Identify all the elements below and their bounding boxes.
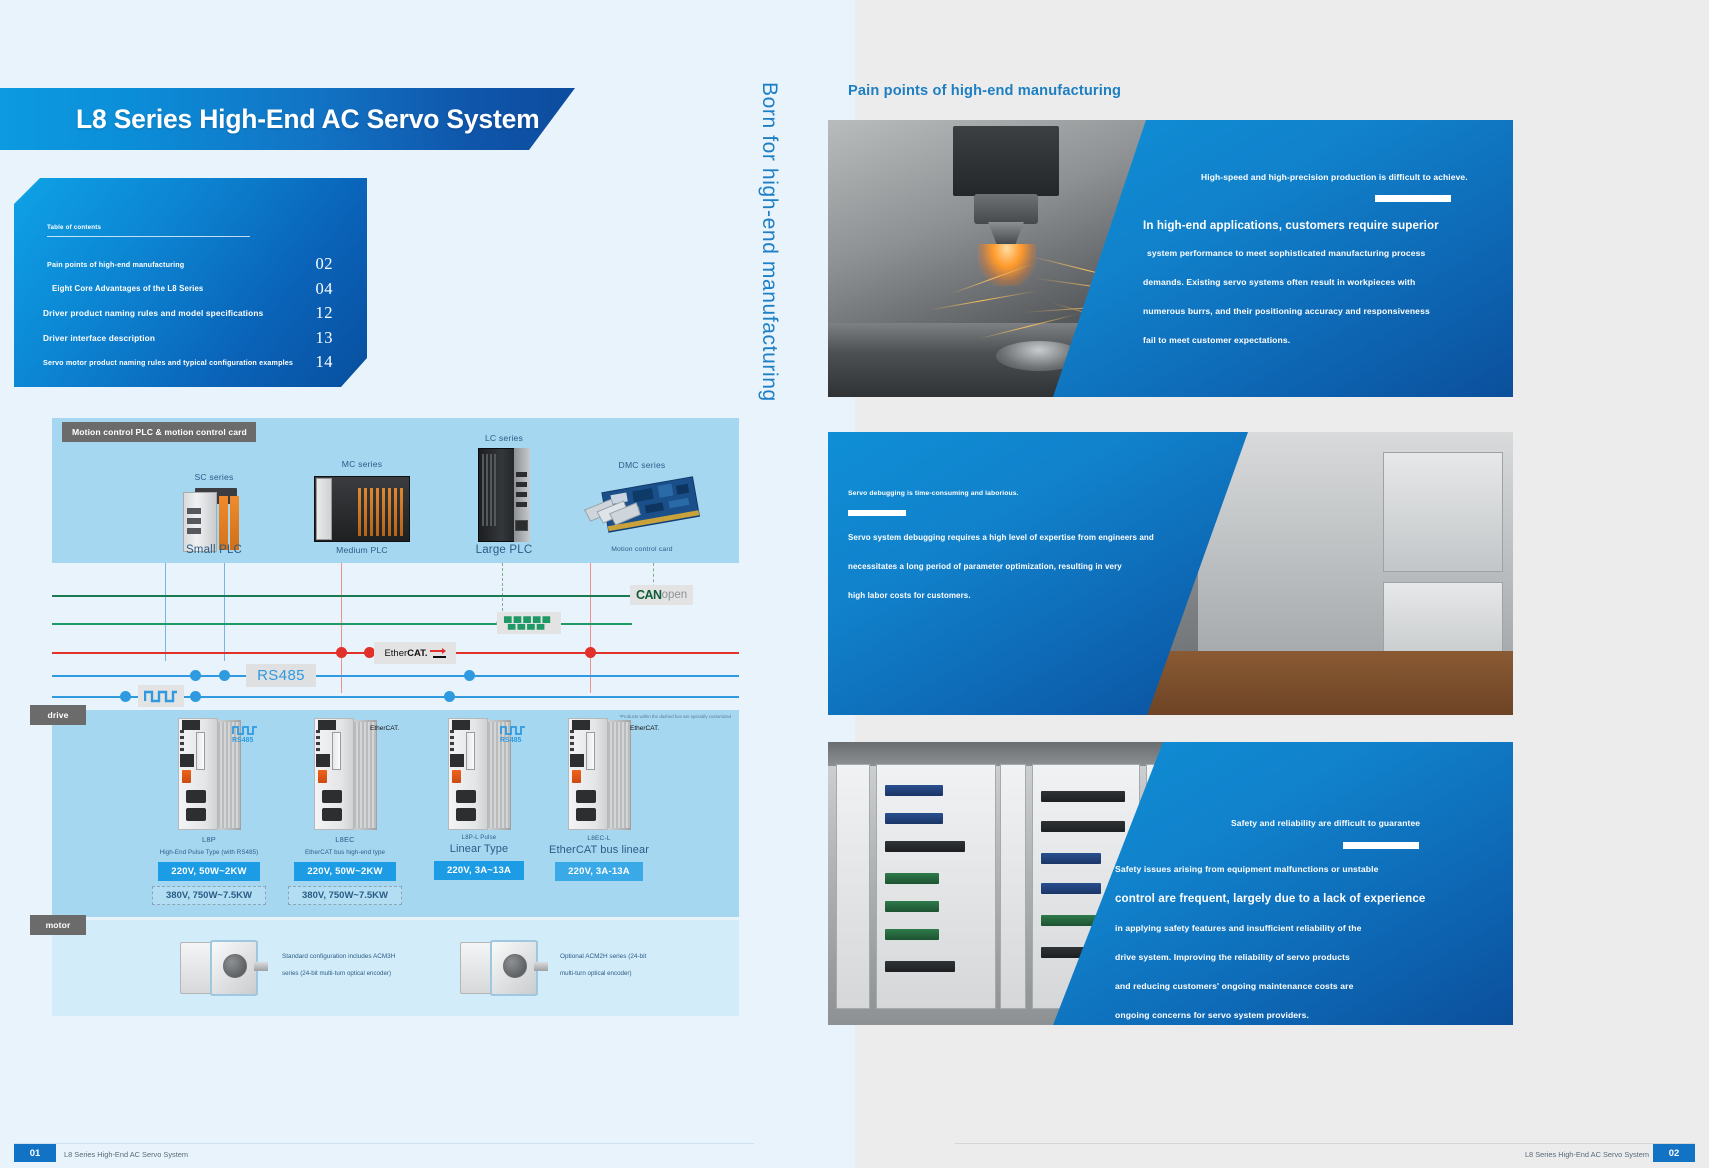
- ethercat-prefix: Ether: [384, 648, 407, 659]
- control-cabinet: [1383, 452, 1503, 572]
- panel-1-line: demands. Existing servo systems often re…: [1143, 277, 1415, 287]
- panel-2-line: necessitates a long period of parameter …: [848, 562, 1122, 571]
- drive-column-l8p: L8P High-End Pulse Type (with RS485) 220…: [134, 718, 284, 905]
- panel-2-line: Servo system debugging requires a high l…: [848, 533, 1154, 542]
- pulse-train-icon: [500, 725, 526, 735]
- toc-entry-page: 04: [316, 279, 334, 299]
- pain-point-panel-2: Servo debugging is time-consuming and la…: [828, 432, 1513, 715]
- motor-caption-standard: Standard configuration includes ACM3H se…: [282, 948, 462, 982]
- bus-node-dot: [190, 691, 201, 702]
- panel-1-heading: High-speed and high-precision production…: [1201, 172, 1468, 182]
- panel-3-line: and reducing customers' ongoing maintena…: [1115, 981, 1353, 991]
- cabinet-frame: [1000, 764, 1026, 1009]
- ethercat-arrow-icon: [430, 647, 446, 659]
- panel-1-line: system performance to meet sophisticated…: [1147, 248, 1425, 258]
- plc-name-dmc: Motion control card: [542, 546, 742, 553]
- drive-proto-text: RS485: [232, 737, 258, 744]
- drive-spec-secondary: 380V, 750W~7.5KW: [288, 886, 402, 905]
- panel-1-line: fail to meet customer expectations.: [1143, 335, 1290, 345]
- page-number-badge: 02: [1653, 1144, 1695, 1162]
- canopen-open-text: open: [662, 589, 688, 601]
- profinet-logo-chip: [497, 612, 561, 634]
- drive-model-label: L8EC-L: [524, 835, 674, 842]
- motor-caption-line1: Standard configuration includes ACM3H: [282, 948, 462, 965]
- footer-title: L8 Series High-End AC Servo System: [1525, 1150, 1649, 1159]
- bus-drop-line: [165, 563, 166, 661]
- page-title: L8 Series High-End AC Servo System: [0, 104, 539, 135]
- bus-node-dot: [585, 647, 596, 658]
- drive-proto-badge-ethercat-linear: EtherCAT.: [630, 725, 659, 732]
- bus-drop-line: [590, 563, 591, 693]
- motor-caption-line2: multi-turn optical encoder): [560, 965, 740, 982]
- toc-entry-page: 02: [316, 254, 334, 274]
- brochure-spread: L8 Series High-End AC Servo System Table…: [0, 0, 1709, 1168]
- ethercat-suffix: CAT.: [407, 648, 427, 659]
- panel-2-accent-bar: [848, 510, 906, 516]
- panel-3-heading: Safety and reliability are difficult to …: [1231, 818, 1420, 828]
- cabinet-frame: [836, 764, 870, 1009]
- drive-spec-secondary: 380V, 750W~7.5KW: [152, 886, 266, 905]
- ethercat-logo-chip: EtherCAT.: [374, 642, 456, 664]
- system-architecture-diagram: Motion control PLC & motion control card…: [52, 418, 739, 1018]
- large-plc-image: [472, 448, 536, 542]
- panel-1-line: numerous burrs, and their positioning ac…: [1143, 306, 1430, 316]
- pain-point-panel-3: Safety and reliability are difficult to …: [828, 742, 1513, 1025]
- motor-band-tag: motor: [30, 915, 86, 935]
- drive-column-l8ec: L8EC EtherCAT bus high-end type 220V, 50…: [270, 718, 420, 905]
- panel-3-accent-bar: [1343, 842, 1419, 849]
- drive-proto-badge-ethercat: EtherCAT.: [370, 725, 399, 732]
- toc-divider: [47, 236, 250, 237]
- panel-3-line: drive system. Improving the reliability …: [1115, 952, 1350, 962]
- left-page: L8 Series High-End AC Servo System Table…: [0, 0, 855, 1168]
- plc-name-small: Small PLC: [164, 544, 264, 556]
- pulse-train-icon: [232, 725, 258, 735]
- panel-1-line: In high-end applications, customers requ…: [1143, 219, 1439, 232]
- bus-node-dot: [190, 670, 201, 681]
- plc-series-label: SC series: [164, 472, 264, 482]
- footer-divider: [955, 1143, 1695, 1144]
- drive-model-label: L8EC: [270, 835, 420, 844]
- canopen-logo-chip: CANopen: [630, 585, 693, 605]
- drive-proto-badge-rs485: RS485: [232, 725, 258, 744]
- plc-series-label: LC series: [404, 433, 604, 443]
- toc-entry[interactable]: Pain points of high-end manufacturing 02: [14, 252, 367, 277]
- bus-node-dot: [464, 670, 475, 681]
- drive-proto-text: EtherCAT.: [370, 725, 399, 732]
- drive-spec-primary: 220V, 50W~2KW: [158, 862, 259, 881]
- panel-2-line: high labor costs for customers.: [848, 591, 971, 600]
- drive-desc-label: EtherCAT bus high-end type: [270, 849, 420, 856]
- toc-entry-title: Pain points of high-end manufacturing: [47, 260, 184, 269]
- right-page-heading: Pain points of high-end manufacturing: [848, 83, 1121, 99]
- drive-unit-image: [562, 718, 636, 830]
- rs485-label-chip: RS485: [246, 664, 316, 687]
- bus-node-dot: [336, 647, 347, 658]
- pain-point-panel-1: High-speed and high-precision production…: [828, 120, 1513, 397]
- toc-entry-page: 13: [316, 328, 334, 348]
- footer-divider: [14, 1143, 754, 1144]
- motor-caption-line2: series (24-bit multi-turn optical encode…: [282, 965, 462, 982]
- plc-series-label: DMC series: [542, 460, 742, 470]
- cabinet-bay: [876, 764, 996, 1009]
- toc-entry[interactable]: Driver product naming rules and model sp…: [14, 301, 367, 326]
- toc-entry-title: Driver product naming rules and model sp…: [43, 308, 263, 318]
- panel-3-line: Safety issues arising from equipment mal…: [1115, 864, 1379, 874]
- table-of-contents-panel: Table of contents Pain points of high-en…: [14, 178, 367, 387]
- footer-title: L8 Series High-End AC Servo System: [64, 1150, 188, 1159]
- canopen-can-text: CAN: [636, 588, 662, 602]
- pulse-train-icon-chip: [138, 685, 184, 707]
- motor-image-standard: [180, 934, 276, 1000]
- drive-unit-image: [308, 718, 382, 830]
- drive-spec-primary: 220V, 3A-13A: [555, 862, 643, 881]
- left-page-footer: 01 L8 Series High-End AC Servo System: [0, 1136, 855, 1168]
- motor-caption-line1: Optional ACM2H series (24-bit: [560, 948, 740, 965]
- panel-3-line: in applying safety features and insuffic…: [1115, 923, 1362, 933]
- panel-2-heading: Servo debugging is time-consuming and la…: [848, 490, 1019, 497]
- plc-item-sc: SC series: [164, 472, 264, 554]
- drive-column-l8ec-l: L8EC-L EtherCAT bus linear 220V, 3A-13A: [524, 718, 674, 881]
- drive-spec-primary: 220V, 50W~2KW: [294, 862, 395, 881]
- drive-desc-label: High-End Pulse Type (with RS485): [134, 849, 284, 856]
- panel-3-line: ongoing concerns for servo system provid…: [1115, 1010, 1309, 1020]
- toc-entry[interactable]: Driver interface description 13: [14, 326, 367, 351]
- drive-proto-text: EtherCAT.: [630, 725, 659, 732]
- pcb-card-svg: [583, 476, 701, 538]
- motor-caption-optional: Optional ACM2H series (24-bit multi-turn…: [560, 948, 740, 982]
- bus-node-dot: [219, 670, 230, 681]
- toc-entry-title: Servo motor product naming rules and typ…: [43, 358, 293, 367]
- toc-entry[interactable]: Servo motor product naming rules and typ…: [14, 350, 367, 375]
- plc-band-tag: Motion control PLC & motion control card: [62, 422, 256, 442]
- laser-head: [953, 126, 1059, 196]
- motor-image-optional: [460, 934, 556, 1000]
- medium-plc-image: [314, 474, 410, 544]
- toc-label: Table of contents: [47, 224, 101, 231]
- fieldbus-area: CANopen EtherCAT.: [52, 563, 739, 710]
- toc-list: Pain points of high-end manufacturing 02…: [14, 252, 367, 375]
- drive-band-tag: drive: [30, 705, 86, 725]
- bus-drop-line: [224, 563, 225, 661]
- vertical-slogan: Born for high-end manufacturing: [757, 82, 781, 402]
- bus-node-dot: [120, 691, 131, 702]
- profinet-logo-svg: [503, 615, 555, 631]
- drive-proto-badge-rs485-linear: RS485: [500, 725, 526, 744]
- bus-drop-line: [341, 563, 342, 693]
- toc-entry-title: Eight Core Advantages of the L8 Series: [52, 284, 203, 293]
- plc-item-dmc: DMC series: [542, 460, 742, 538]
- page-number-badge: 01: [14, 1144, 56, 1162]
- panel-3-line: control are frequent, largely due to a l…: [1115, 892, 1425, 905]
- toc-entry-page: 14: [316, 352, 334, 372]
- bus-node-dot: [444, 691, 455, 702]
- drive-spec-primary: 220V, 3A~13A: [434, 861, 524, 880]
- motion-control-card-image: [583, 476, 701, 538]
- right-page-footer: L8 Series High-End AC Servo System 02: [855, 1136, 1709, 1168]
- panel-1-accent-bar: [1375, 195, 1451, 202]
- drive-desc-label: EtherCAT bus linear: [524, 844, 674, 856]
- pulse-train-icon: [144, 689, 178, 703]
- rs485-bus-line: [52, 675, 739, 677]
- canopen-bus-line: [52, 595, 632, 597]
- page-title-ribbon: L8 Series High-End AC Servo System: [0, 88, 575, 150]
- toc-entry-title: Driver interface description: [43, 333, 155, 343]
- drive-proto-text: RS485: [500, 737, 526, 744]
- toc-entry[interactable]: Eight Core Advantages of the L8 Series 0…: [14, 277, 367, 302]
- drive-model-label: L8P: [134, 835, 284, 844]
- toc-entry-page: 12: [316, 303, 334, 323]
- laser-nozzle-housing: [974, 194, 1038, 224]
